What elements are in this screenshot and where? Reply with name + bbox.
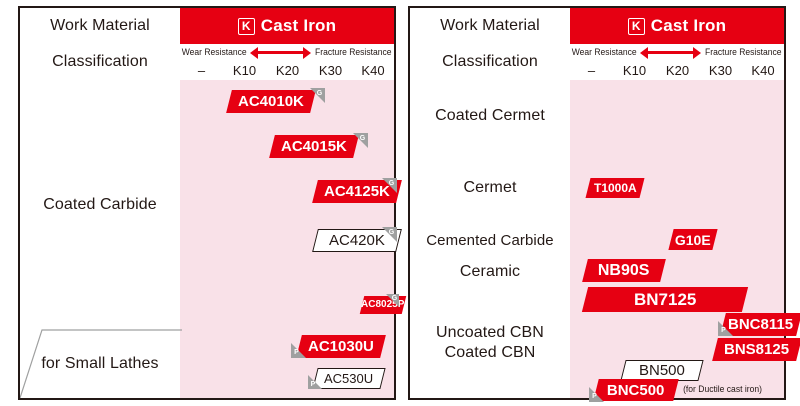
chip-bn500[interactable]: BN500: [620, 360, 703, 381]
grade-col-header-1: K10: [223, 60, 266, 80]
work-material-header: Work Material: [20, 8, 180, 44]
row-label-cbn-line2: Coated CBN: [445, 343, 536, 363]
grade-col-header-right-2: K20: [656, 60, 699, 80]
grade-col-header-0: –: [180, 60, 223, 80]
grade-chart-page: Work Material K Cast Iron Classification…: [0, 0, 800, 406]
work-material-header-right: Work Material: [410, 8, 570, 44]
row-label-ceramic: Ceramic: [410, 256, 570, 288]
material-name-right: Cast Iron: [651, 16, 726, 36]
material-title-band: K Cast Iron: [180, 8, 394, 44]
material-badge-k-right: K: [628, 18, 645, 35]
grade-col-header-right-3: K30: [699, 60, 742, 80]
chip-bnc500[interactable]: BNC500: [593, 379, 678, 401]
right-panel: Work Material K Cast Iron Classification…: [408, 6, 786, 400]
fracture-resistance-label: Fracture Resistance: [315, 47, 392, 57]
chip-bns8125[interactable]: BNS8125: [712, 338, 800, 361]
classification-header-right: Classification: [410, 44, 570, 80]
chip-ac1030u-marker: P: [291, 343, 306, 358]
row-label-cemented-carbide: Cemented Carbide: [410, 224, 570, 256]
chip-ac4015k-marker: G: [353, 133, 368, 148]
chip-ac8025p-marker: G: [386, 294, 399, 307]
note-for-ductile-cast-iron: (for Ductile cast iron): [683, 384, 762, 394]
left-panel-grid: Work Material K Cast Iron Classification…: [20, 8, 394, 398]
right-panel-grid: Work Material K Cast Iron Classification…: [410, 8, 784, 398]
resistance-arrow-icon: [250, 47, 311, 58]
chip-ac8025p[interactable]: AC8025P: [360, 296, 406, 314]
resistance-arrow-strip-right: Wear Resistance Fracture Resistance: [570, 44, 784, 60]
classification-header: Classification: [20, 44, 180, 80]
chip-bn7125[interactable]: BN7125: [582, 287, 748, 312]
chip-ac1030u[interactable]: AC1030U: [296, 335, 386, 358]
chip-ac4010k[interactable]: AC4010K: [226, 90, 316, 113]
grade-col-header-right-0: –: [570, 60, 613, 80]
chip-ac530u[interactable]: AC530U: [312, 368, 385, 389]
chip-ac4125k-marker: G: [382, 178, 397, 193]
grade-col-header-3: K30: [309, 60, 352, 80]
row-label-cbn-line1: Uncoated CBN: [436, 323, 544, 343]
chip-ac530u-marker: P: [308, 375, 322, 389]
row-label-coated-cermet: Coated Cermet: [410, 80, 570, 152]
resistance-arrow-strip: Wear Resistance Fracture Resistance: [180, 44, 394, 60]
fracture-resistance-label-right: Fracture Resistance: [705, 47, 782, 57]
chip-ac420k-marker: G: [382, 227, 397, 242]
grade-col-header-right-1: K10: [613, 60, 656, 80]
wear-resistance-label: Wear Resistance: [182, 47, 247, 57]
chip-t1000a[interactable]: T1000A: [586, 178, 645, 198]
chip-bnc8115-marker: P: [718, 321, 733, 336]
chip-ac4015k[interactable]: AC4015K: [269, 135, 359, 158]
row-label-cermet: Cermet: [410, 152, 570, 224]
chip-bnc500-marker: P: [589, 387, 604, 402]
wear-resistance-label-right: Wear Resistance: [572, 47, 637, 57]
grade-col-header-4: K40: [352, 60, 394, 80]
material-badge-k: K: [238, 18, 255, 35]
row-label-for-small-lathes: for Small Lathes: [20, 330, 180, 398]
left-panel: Work Material K Cast Iron Classification…: [18, 6, 396, 400]
row-label-cbn: Uncoated CBN Coated CBN: [410, 288, 570, 398]
chip-g10e[interactable]: G10E: [668, 229, 717, 250]
material-title-band-right: K Cast Iron: [570, 8, 784, 44]
resistance-arrow-icon-right: [640, 47, 701, 58]
grade-col-header-right-4: K40: [742, 60, 784, 80]
grade-col-header-2: K20: [266, 60, 309, 80]
material-name: Cast Iron: [261, 16, 336, 36]
chip-nb90s[interactable]: NB90S: [582, 259, 666, 282]
row-label-coated-carbide: Coated Carbide: [20, 80, 180, 330]
chip-ac4010k-marker: G: [310, 88, 325, 103]
